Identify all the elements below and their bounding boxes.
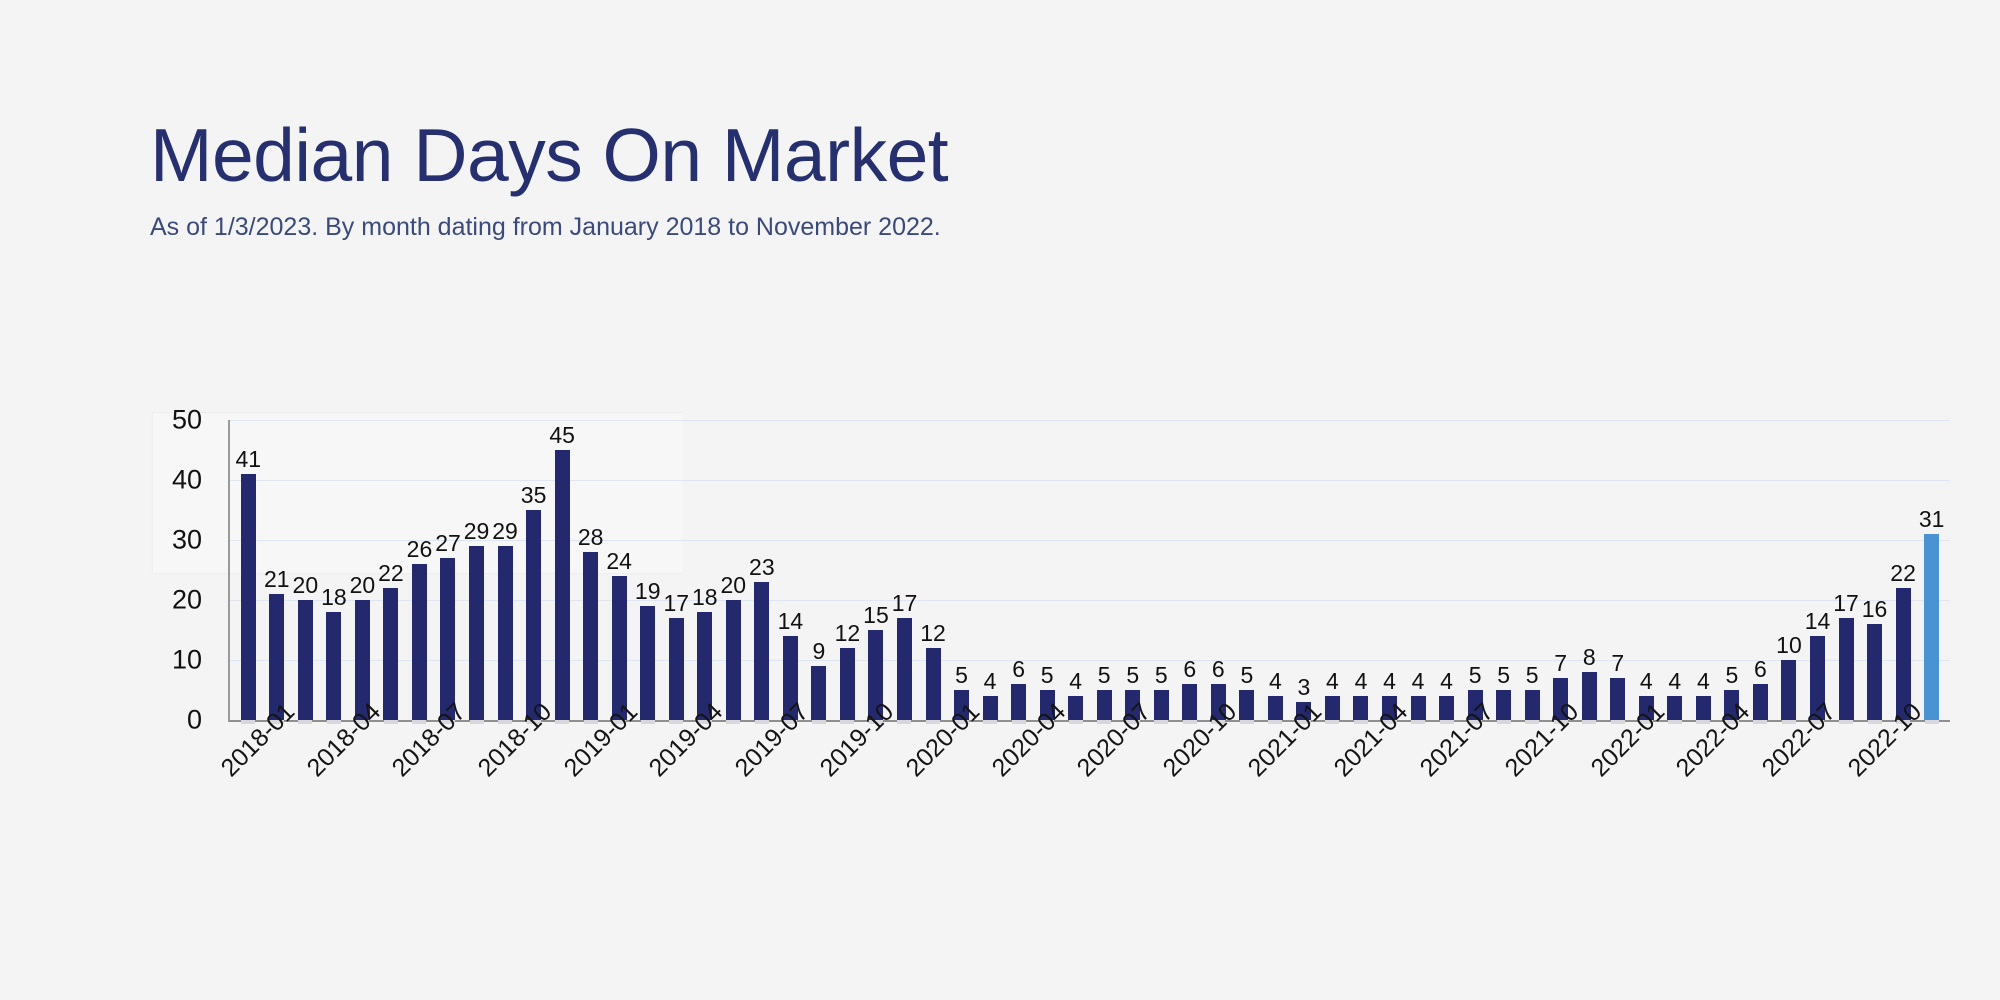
x-tick-mark: [1069, 720, 1083, 724]
bar[interactable]: 23: [754, 582, 769, 720]
bar[interactable]: 17: [897, 618, 912, 720]
bar-value-label: 4: [1412, 670, 1425, 693]
bar[interactable]: 5: [1496, 690, 1511, 720]
page-title: Median Days On Market: [150, 118, 1850, 193]
bar-slot: 29: [491, 420, 520, 720]
bar[interactable]: 5: [1097, 690, 1112, 720]
bar-value-label: 18: [692, 586, 718, 609]
bar-slot: 4: [1347, 420, 1376, 720]
bar-slot: 4: [976, 420, 1005, 720]
bar-slot: 4: [1061, 420, 1090, 720]
x-tick-mark: [897, 720, 911, 724]
bar[interactable]: 29: [498, 546, 513, 720]
x-tick-mark: [1012, 720, 1026, 724]
bar-value-label: 17: [663, 592, 689, 615]
plot-area: 4121201820222627292935452824191718202314…: [228, 420, 1950, 722]
bar-slot: 4: [1318, 420, 1347, 720]
bar-value-label: 12: [835, 622, 861, 645]
x-tick-mark: [1497, 720, 1511, 724]
bar-slot: 4: [1375, 420, 1404, 720]
bar-value-label: 15: [863, 604, 889, 627]
bar[interactable]: 6: [1011, 684, 1026, 720]
x-axis: 2018-012018-042018-072018-102019-012019-…: [228, 730, 2000, 880]
bar[interactable]: 4: [1696, 696, 1711, 720]
bar-slot: 21: [263, 420, 292, 720]
bar-slot: 8: [1575, 420, 1604, 720]
bar[interactable]: 5: [1525, 690, 1540, 720]
bar-slot: 5: [1118, 420, 1147, 720]
bar-slot: 22: [377, 420, 406, 720]
bar-slot: 6: [1004, 420, 1033, 720]
bar[interactable]: 5: [1154, 690, 1169, 720]
bar-slot: 45: [548, 420, 577, 720]
bar-value-label: 4: [984, 670, 997, 693]
bar-value-label: 20: [350, 574, 376, 597]
x-tick-mark: [1325, 720, 1339, 724]
bar-value-label: 4: [1640, 670, 1653, 693]
bar-slot: 27: [434, 420, 463, 720]
bar-value-label: 12: [920, 622, 946, 645]
bar[interactable]: 12: [840, 648, 855, 720]
bar-value-label: 29: [492, 520, 518, 543]
bar-slot: 17: [1832, 420, 1861, 720]
bar-value-label: 5: [1098, 664, 1111, 687]
bar-value-label: 14: [778, 610, 804, 633]
bar[interactable]: 22: [383, 588, 398, 720]
bar-value-label: 4: [1668, 670, 1681, 693]
x-tick-mark: [555, 720, 569, 724]
x-tick-mark: [384, 720, 398, 724]
bar-slot: 20: [719, 420, 748, 720]
x-tick-mark: [470, 720, 484, 724]
bar-value-label: 21: [264, 568, 290, 591]
bar-slot: 9: [805, 420, 834, 720]
bar[interactable]: 4: [1353, 696, 1368, 720]
bar[interactable]: 26: [412, 564, 427, 720]
bar-slot: 17: [890, 420, 919, 720]
bar-value-label: 5: [1155, 664, 1168, 687]
bar-value-label: 22: [378, 562, 404, 585]
x-tick-mark: [1753, 720, 1767, 724]
chart-header: Median Days On Market As of 1/3/2023. By…: [150, 118, 1850, 242]
bar-value-label: 4: [1697, 670, 1710, 693]
bar-slot: 41: [234, 420, 263, 720]
bar-value-label: 4: [1269, 670, 1282, 693]
bar-value-label: 5: [1725, 664, 1738, 687]
bar-slot: 6: [1746, 420, 1775, 720]
bar[interactable]: 17: [1839, 618, 1854, 720]
bar-slot: 19: [633, 420, 662, 720]
bar-value-label: 27: [435, 532, 461, 555]
x-tick-mark: [298, 720, 312, 724]
bar-value-label: 14: [1805, 610, 1831, 633]
bar-value-label: 41: [235, 448, 261, 471]
bar[interactable]: 8: [1582, 672, 1597, 720]
y-tick-label: 30: [172, 525, 202, 556]
bar[interactable]: 35: [526, 510, 541, 720]
bar-value-label: 4: [1355, 670, 1368, 693]
bar-slot: 23: [748, 420, 777, 720]
bar-slot: 18: [691, 420, 720, 720]
bar-value-label: 5: [1240, 664, 1253, 687]
bar-slot: 24: [605, 420, 634, 720]
bar-slot: 5: [1090, 420, 1119, 720]
bar[interactable]: 27: [440, 558, 455, 720]
bar-value-label: 5: [955, 664, 968, 687]
bar-value-label: 17: [1833, 592, 1859, 615]
bar-slot: 4: [1632, 420, 1661, 720]
bar-value-label: 7: [1611, 652, 1624, 675]
bar-value-label: 4: [1326, 670, 1339, 693]
bar-series: 4121201820222627292935452824191718202314…: [230, 420, 1950, 720]
bar[interactable]: 17: [669, 618, 684, 720]
bar-slot: 5: [1147, 420, 1176, 720]
x-tick-mark: [1839, 720, 1853, 724]
bar[interactable]: 28: [583, 552, 598, 720]
bar-slot: 22: [1889, 420, 1918, 720]
bar-value-label: 35: [521, 484, 547, 507]
bar-slot: 4: [1661, 420, 1690, 720]
bar-slot: 14: [1803, 420, 1832, 720]
x-tick-mark: [812, 720, 826, 724]
bar-value-label: 7: [1554, 652, 1567, 675]
bar-value-label: 10: [1776, 634, 1802, 657]
y-axis: 01020304050: [150, 420, 212, 720]
bar[interactable]: 9: [811, 666, 826, 720]
bar-value-label: 45: [549, 424, 575, 447]
bar-value-label: 18: [321, 586, 347, 609]
bar-value-label: 26: [407, 538, 433, 561]
bar[interactable]: 20: [726, 600, 741, 720]
y-tick-label: 20: [172, 585, 202, 616]
bar[interactable]: 45: [555, 450, 570, 720]
bar-value-label: 4: [1069, 670, 1082, 693]
bar-value-label: 8: [1583, 646, 1596, 669]
bar-slot: 31: [1917, 420, 1946, 720]
y-tick-label: 50: [172, 405, 202, 436]
bar-slot: 5: [1461, 420, 1490, 720]
bar-value-label: 20: [293, 574, 319, 597]
bar-value-label: 29: [464, 520, 490, 543]
bar[interactable]: 29: [469, 546, 484, 720]
x-tick-mark: [983, 720, 997, 724]
y-tick-label: 0: [187, 705, 202, 736]
bar[interactable]: 16: [1867, 624, 1882, 720]
bar[interactable]: 19: [640, 606, 655, 720]
bar-value-label: 5: [1526, 664, 1539, 687]
bar-slot: 10: [1775, 420, 1804, 720]
bar-slot: 4: [1432, 420, 1461, 720]
bar-slot: 4: [1261, 420, 1290, 720]
bar-slot: 20: [291, 420, 320, 720]
x-tick-mark: [1154, 720, 1168, 724]
bar-slot: 15: [862, 420, 891, 720]
bar-value-label: 17: [892, 592, 918, 615]
x-tick-mark: [1668, 720, 1682, 724]
x-tick-mark: [1868, 720, 1882, 724]
bar-slot: 4: [1404, 420, 1433, 720]
bar-slot: 20: [348, 420, 377, 720]
bar-slot: 5: [947, 420, 976, 720]
bar-slot: 5: [1489, 420, 1518, 720]
bar-slot: 5: [1518, 420, 1547, 720]
bar-slot: 3: [1290, 420, 1319, 720]
bar-slot: 28: [576, 420, 605, 720]
y-tick-label: 40: [172, 465, 202, 496]
bar[interactable]: 20: [298, 600, 313, 720]
bar-slot: 35: [519, 420, 548, 720]
bar-slot: 18: [320, 420, 349, 720]
bar-value-label: 31: [1919, 508, 1945, 531]
bar-value-label: 20: [721, 574, 747, 597]
bar-slot: 7: [1604, 420, 1633, 720]
bar[interactable]: 5: [1239, 690, 1254, 720]
bar-value-label: 24: [606, 550, 632, 573]
x-tick-mark: [1925, 720, 1939, 724]
bar-slot: 6: [1176, 420, 1205, 720]
bar-slot: 7: [1546, 420, 1575, 720]
y-tick-label: 10: [172, 645, 202, 676]
bar-value-label: 23: [749, 556, 775, 579]
bar-value-label: 9: [812, 640, 825, 663]
bar-value-label: 6: [1754, 658, 1767, 681]
bar-slot: 26: [405, 420, 434, 720]
bar-value-label: 3: [1298, 676, 1311, 699]
bar-value-label: 4: [1383, 670, 1396, 693]
bar-slot: 12: [919, 420, 948, 720]
bar[interactable]: 10: [1781, 660, 1796, 720]
bar[interactable]: 4: [1268, 696, 1283, 720]
x-tick-mark: [1240, 720, 1254, 724]
bar-slot: 5: [1718, 420, 1747, 720]
bar-slot: 6: [1204, 420, 1233, 720]
bar-value-label: 16: [1862, 598, 1888, 621]
bar-value-label: 5: [1469, 664, 1482, 687]
bar-value-label: 6: [1212, 658, 1225, 681]
bar-value-label: 19: [635, 580, 661, 603]
bar[interactable]: 41: [241, 474, 256, 720]
bar[interactable]: 6: [1753, 684, 1768, 720]
bar-value-label: 28: [578, 526, 604, 549]
bar-slot: 17: [662, 420, 691, 720]
bar-slot: 4: [1689, 420, 1718, 720]
bar[interactable]: 4: [1439, 696, 1454, 720]
bar-value-label: 5: [1126, 664, 1139, 687]
bar[interactable]: 18: [326, 612, 341, 720]
bar-highlighted[interactable]: 31: [1924, 534, 1939, 720]
bar-value-label: 5: [1041, 664, 1054, 687]
bar-value-label: 6: [1012, 658, 1025, 681]
bar-value-label: 4: [1440, 670, 1453, 693]
x-tick-mark: [1440, 720, 1454, 724]
x-tick-mark: [726, 720, 740, 724]
bar-slot: 12: [833, 420, 862, 720]
bar[interactable]: 12: [926, 648, 941, 720]
bar[interactable]: 6: [1182, 684, 1197, 720]
bar[interactable]: 7: [1610, 678, 1625, 720]
bar-slot: 5: [1033, 420, 1062, 720]
bar-chart: 01020304050 4121201820222627292935452824…: [150, 420, 1950, 720]
bar-slot: 16: [1860, 420, 1889, 720]
bar-slot: 29: [462, 420, 491, 720]
x-tick-mark: [1582, 720, 1596, 724]
bar-value-label: 22: [1890, 562, 1916, 585]
x-tick-mark: [641, 720, 655, 724]
bar-slot: 14: [776, 420, 805, 720]
x-tick-mark: [1411, 720, 1425, 724]
bar-value-label: 5: [1497, 664, 1510, 687]
x-tick-mark: [584, 720, 598, 724]
chart-subtitle: As of 1/3/2023. By month dating from Jan…: [150, 193, 1850, 242]
bar-slot: 5: [1233, 420, 1262, 720]
bar-value-label: 6: [1183, 658, 1196, 681]
